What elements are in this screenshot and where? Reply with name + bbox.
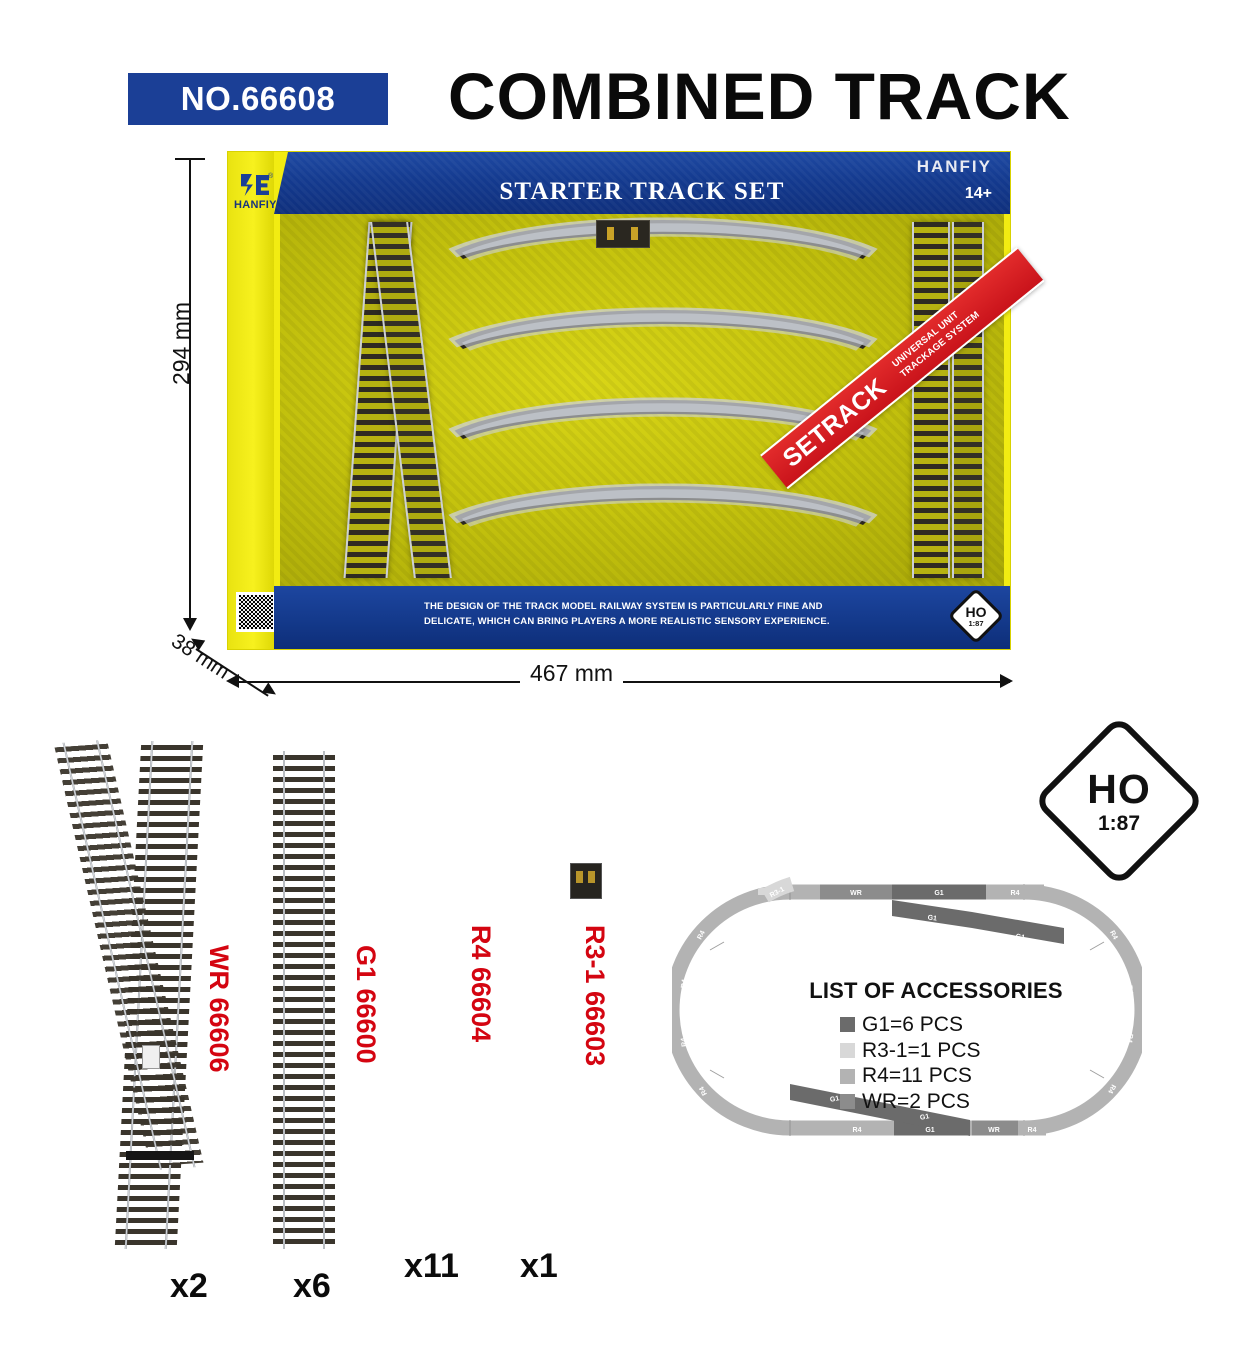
layout-label-wr-bottom: WR	[988, 1127, 1000, 1134]
layout-label-r4-left-2: R4	[680, 979, 688, 989]
part-item-g1: G1 66600 x6	[265, 755, 375, 1245]
dimension-height-arrow	[183, 618, 197, 631]
layout-label-r4-bottomright: R4	[1028, 1127, 1037, 1134]
part-item-r3-1: R3-1 66603 x1	[492, 775, 612, 1245]
accessory-swatch-r4	[840, 1069, 855, 1084]
list-item: G1=6 PCS	[840, 1012, 1086, 1038]
accessory-swatch-wr	[840, 1094, 855, 1109]
list-item: WR=2 PCS	[840, 1089, 1086, 1115]
layout-label-g1-top: G1	[934, 890, 943, 897]
layout-label-g1-siding-a: G1	[927, 914, 937, 922]
part-wr-throw-lever	[142, 1045, 160, 1069]
part-qty-r4: x11	[404, 1247, 459, 1286]
layout-label-r4-bottomleft: R4	[853, 1127, 862, 1134]
layout-label-g1-bottom: G1	[925, 1127, 934, 1134]
tray-power-connector	[596, 220, 650, 248]
qr-code	[236, 592, 276, 632]
dimension-width-label: 467 mm	[520, 660, 623, 687]
scale-badge-ratio: 1:87	[1098, 813, 1140, 834]
part-qty-g1: x6	[293, 1267, 331, 1306]
box-scale-badge: HO 1:87	[956, 596, 996, 636]
accessory-label-r4: R4=11 PCS	[862, 1063, 972, 1089]
list-item: R3-1=1 PCS	[840, 1038, 1086, 1064]
accessory-label-wr: WR=2 PCS	[862, 1089, 970, 1115]
dimension-height-label: 294 mm	[168, 302, 195, 385]
part-qty-wr: x2	[170, 1267, 208, 1306]
part-item-r4: R4 66604 x11	[380, 735, 500, 1245]
box-brand-name: HANFIY	[917, 157, 992, 177]
layout-label-wr-top: WR	[850, 890, 862, 897]
hanfiy-logo: ® HANFIY	[234, 174, 274, 222]
layout-label-g1-siding-b: G1	[1015, 933, 1025, 941]
sku-badge: NO.66608	[128, 73, 388, 125]
part-r3-1-power-terminal	[570, 863, 602, 899]
product-box-image: ® HANFIY HANFIY STARTER TRACK SET 14+ SE…	[228, 152, 1010, 649]
layout-label-r4-right-3: R4	[1125, 1033, 1133, 1043]
scale-badge: HO 1:87	[1058, 740, 1180, 862]
dimension-depth-arrow-b	[262, 682, 279, 699]
accessories-title: LIST OF ACCESSORIES	[786, 978, 1086, 1004]
list-item: R4=11 PCS	[840, 1063, 1086, 1089]
accessory-label-r3-1: R3-1=1 PCS	[862, 1038, 980, 1064]
tray-straight-piece-1	[912, 222, 950, 578]
layout-siding-upper	[892, 900, 1064, 944]
accessories-list: G1=6 PCS R3-1=1 PCS R4=11 PCS WR=2 PCS	[786, 1012, 1086, 1114]
layout-label-r4-topright: R4	[1011, 890, 1020, 897]
box-description-text: THE DESIGN OF THE TRACK MODEL RAILWAY SY…	[424, 600, 844, 629]
accessory-swatch-g1	[840, 1017, 855, 1032]
part-qty-r3-1: x1	[520, 1247, 558, 1286]
tray-curve-row-4	[424, 486, 902, 586]
part-item-wr: WR 66606 x2	[80, 745, 230, 1245]
box-subtitle: STARTER TRACK SET	[274, 178, 1010, 206]
hanfiy-logo-text: HANFIY	[234, 199, 277, 211]
part-label-r3-1: R3-1 66603	[579, 925, 610, 1066]
dimension-height-line	[189, 158, 191, 628]
accessory-swatch-r3-1	[840, 1043, 855, 1058]
registered-trademark-symbol: ®	[268, 173, 273, 180]
dimension-width-arrow-right	[1000, 674, 1013, 688]
tray-straight-piece-2	[952, 222, 984, 578]
layout-label-r4-left-3: R4	[680, 1037, 688, 1047]
scale-badge-scale: HO	[1087, 769, 1151, 810]
accessory-label-g1: G1=6 PCS	[862, 1012, 963, 1038]
part-wr-tiebar	[126, 1151, 194, 1160]
part-label-wr: WR 66606	[203, 945, 234, 1073]
layout-label-r4-right-2: R4	[1125, 985, 1133, 995]
box-scale-badge-scale: HO	[966, 605, 987, 619]
box-header-band: HANFIY STARTER TRACK SET 14+	[274, 152, 1010, 214]
page-header: NO.66608 COMBINED TRACK	[0, 28, 1242, 118]
box-footer-band: THE DESIGN OF THE TRACK MODEL RAILWAY SY…	[274, 586, 1010, 649]
accessories-panel: LIST OF ACCESSORIES G1=6 PCS R3-1=1 PCS …	[786, 978, 1086, 1114]
age-rating-badge: 14+	[965, 185, 992, 203]
parts-gallery: WR 66606 x2 G1 66600 x6 R4 66604 x11	[80, 725, 660, 1325]
box-spine: ® HANFIY	[228, 152, 274, 649]
page-title: COMBINED TRACK	[448, 58, 1148, 134]
box-scale-badge-ratio: 1:87	[968, 620, 983, 628]
part-g1-track-graphic	[273, 755, 335, 1245]
sku-text: NO.66608	[181, 80, 335, 118]
part-label-g1: G1 66600	[350, 945, 381, 1064]
